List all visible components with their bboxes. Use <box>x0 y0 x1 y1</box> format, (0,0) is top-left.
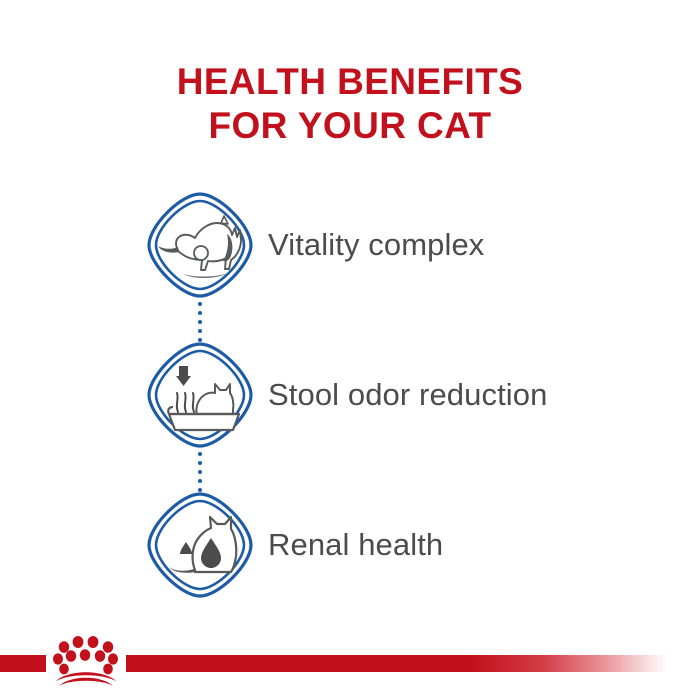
benefits-list: Vitality complex <box>0 190 700 640</box>
title-line-2: FOR YOUR CAT <box>0 104 700 148</box>
benefit-row: Vitality complex <box>0 190 700 340</box>
page-title: HEALTH BENEFITS FOR YOUR CAT <box>0 60 700 148</box>
benefit-label: Renal health <box>268 490 443 600</box>
cat-playing-ball-icon <box>145 190 255 300</box>
benefit-label: Vitality complex <box>268 190 484 300</box>
connector-dots <box>195 302 205 340</box>
cat-litter-box-down-arrow-icon <box>145 340 255 450</box>
benefit-label: Stool odor reduction <box>268 340 547 450</box>
benefit-row: Stool odor reduction <box>0 340 700 490</box>
connector-dots <box>195 452 205 490</box>
title-line-1: HEALTH BENEFITS <box>0 60 700 104</box>
cat-water-droplet-icon <box>145 490 255 600</box>
benefit-row: Renal health <box>0 490 700 640</box>
health-benefits-panel: HEALTH BENEFITS FOR YOUR CAT <box>0 0 700 700</box>
royal-canin-crown-logo <box>47 632 127 688</box>
